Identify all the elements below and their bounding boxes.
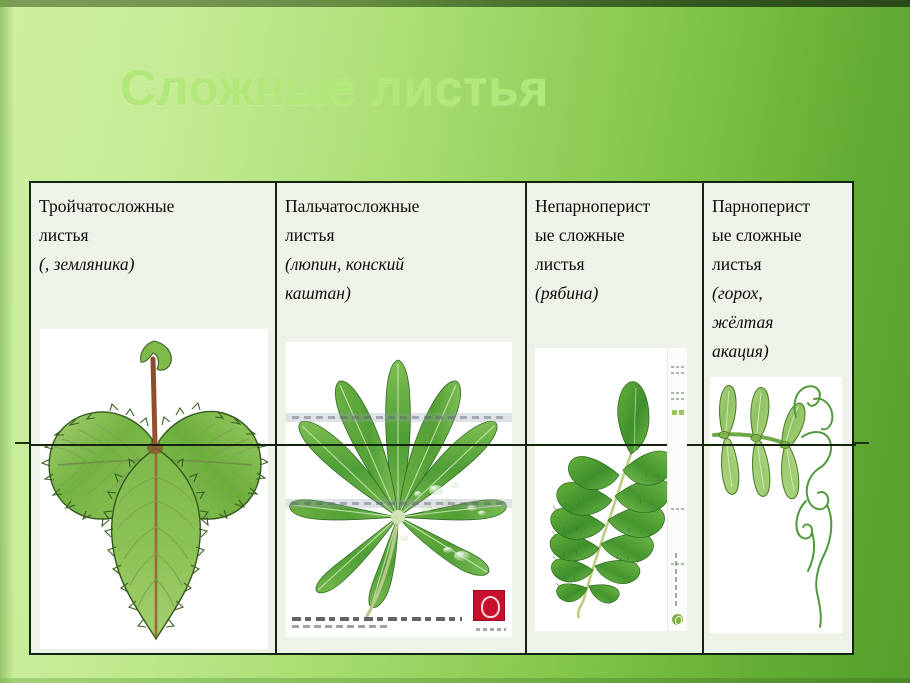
rowan-terminal-leaflet (618, 382, 649, 454)
caption-line-examples: жёлтая (712, 308, 848, 337)
caption-text-line-1 (292, 617, 462, 621)
sidebar-text-line (671, 392, 684, 394)
leaf-types-table: Тройчатосложные листья (, земляника) (29, 181, 854, 655)
leaflet-upper-right (782, 403, 805, 447)
leaf-stipule (141, 341, 172, 370)
horizontal-rule-stub-left (15, 442, 30, 444)
sidebar-chip (672, 410, 677, 415)
caption-line-examples: акация) (712, 337, 848, 366)
column-caption-imparipinnate: Непарноперист ые сложные листья (рябина) (527, 183, 702, 308)
pea-node-middle (751, 435, 761, 442)
caption-line: ые сложные (535, 221, 698, 250)
slide-bottom-edge-shading (0, 678, 910, 683)
column-caption-trifoliate: Тройчатосложные листья (, земляника) (31, 183, 275, 279)
stock-photo-sidebar (667, 348, 687, 631)
leaflet-junction (147, 442, 163, 454)
caption-line-examples: (, земляника) (39, 250, 271, 279)
sidebar-text-line (671, 508, 684, 510)
slide-top-edge-shading (0, 0, 910, 7)
caption-line: Пальчатосложные (285, 192, 521, 221)
stock-photo-watermark-mark: ♢ (627, 472, 647, 498)
table-column-imparipinnate: Непарноперист ые сложные листья (рябина) (527, 183, 704, 653)
sidebar-chip (679, 410, 684, 415)
presentation-slide: Сложные листья Тройчатосложные листья (,… (0, 0, 910, 683)
table-column-paripinnate: Парноперист ые сложные листья (горох, жё… (704, 183, 852, 653)
sidebar-text-line (671, 563, 684, 565)
caption-line: листья (285, 221, 521, 250)
caption-line-examples: (люпин, конский (285, 250, 521, 279)
pea-node-left (719, 432, 729, 439)
pea-leaf-drawing (710, 377, 842, 633)
caption-text-line-2 (292, 625, 388, 628)
pea-paripinnate-leaf-image (710, 377, 842, 633)
stock-photo-reference-code (476, 628, 506, 631)
caption-line-examples: (рябина) (535, 279, 698, 308)
caption-line: Тройчатосложные (39, 192, 271, 221)
leaflet-upper-middle (751, 388, 769, 437)
stock-photo-caption (292, 617, 462, 628)
column-caption-paripinnate: Парноперист ые сложные листья (горох, жё… (704, 183, 852, 366)
watermark-band-upper (286, 413, 512, 422)
sidebar-text-line (671, 366, 684, 368)
lupine-hub (391, 510, 405, 524)
stock-photo-logo (473, 590, 505, 621)
sidebar-vertical-text (675, 553, 677, 609)
caption-line: Парноперист (712, 192, 848, 221)
caption-line: листья (535, 250, 698, 279)
slide-left-vignette (0, 0, 14, 683)
strawberry-leaf-drawing (40, 329, 268, 649)
rowan-petiole-base (578, 602, 583, 618)
table-column-trifoliate: Тройчатосложные листья (, земляника) (31, 183, 277, 653)
lupine-palmate-leaf-image (286, 342, 512, 637)
leaflet-lower-left (722, 439, 739, 495)
table-column-palmate: Пальчатосложные листья (люпин, конский к… (277, 183, 527, 653)
column-caption-palmate: Пальчатосложные листья (люпин, конский к… (277, 183, 525, 308)
sidebar-text-line (671, 372, 684, 374)
caption-line: листья (712, 250, 848, 279)
caption-line-examples: (горох, (712, 279, 848, 308)
slide-title: Сложные листья (120, 58, 820, 118)
sidebar-text-line (671, 398, 684, 400)
pea-node-right (780, 442, 790, 449)
caption-line: ые сложные (712, 221, 848, 250)
rowan-leaf-photo (535, 348, 687, 631)
horizontal-rule-stub-right (853, 442, 869, 444)
rowan-imparipinnate-leaf-image: ♢ (535, 348, 687, 631)
caption-line-examples: каштан) (285, 279, 521, 308)
stock-photo-badge (672, 614, 683, 625)
strawberry-trifoliate-leaf-image (40, 329, 268, 649)
caption-line: Непарноперист (535, 192, 698, 221)
watermark-band-lower (286, 499, 512, 508)
caption-line: листья (39, 221, 271, 250)
